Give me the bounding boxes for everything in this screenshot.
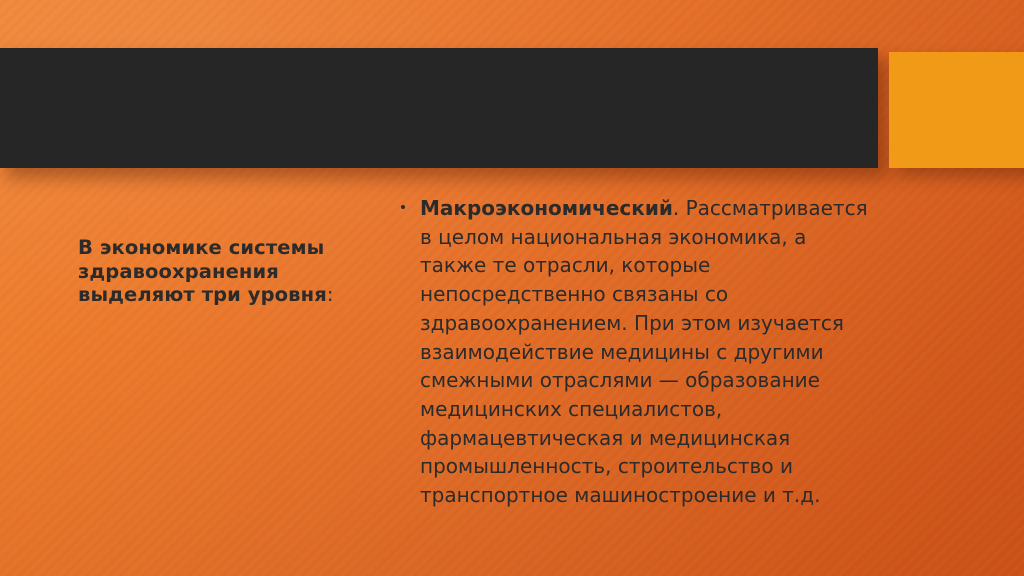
left-text-column: В экономике системы здравоохранения выде… <box>78 236 374 307</box>
list-item: Макроэкономический. Рассматривается в це… <box>398 194 868 510</box>
right-text-column: Макроэкономический. Рассматривается в це… <box>398 194 868 510</box>
lead-heading-tail: : <box>327 283 334 306</box>
presentation-slide: В экономике системы здравоохранения выде… <box>0 0 1024 576</box>
bullet-body-text: . Рассматривается в целом национальная э… <box>420 196 868 507</box>
bullet-dot-icon <box>401 205 405 209</box>
slide-content: В экономике системы здравоохранения выде… <box>0 168 1024 576</box>
title-banner-bar <box>0 48 878 168</box>
accent-block <box>889 52 1024 168</box>
lead-heading-bold: В экономике системы здравоохранения выде… <box>78 236 327 306</box>
lead-heading: В экономике системы здравоохранения выде… <box>78 236 374 307</box>
bullet-lead-term: Макроэкономический <box>420 196 673 220</box>
